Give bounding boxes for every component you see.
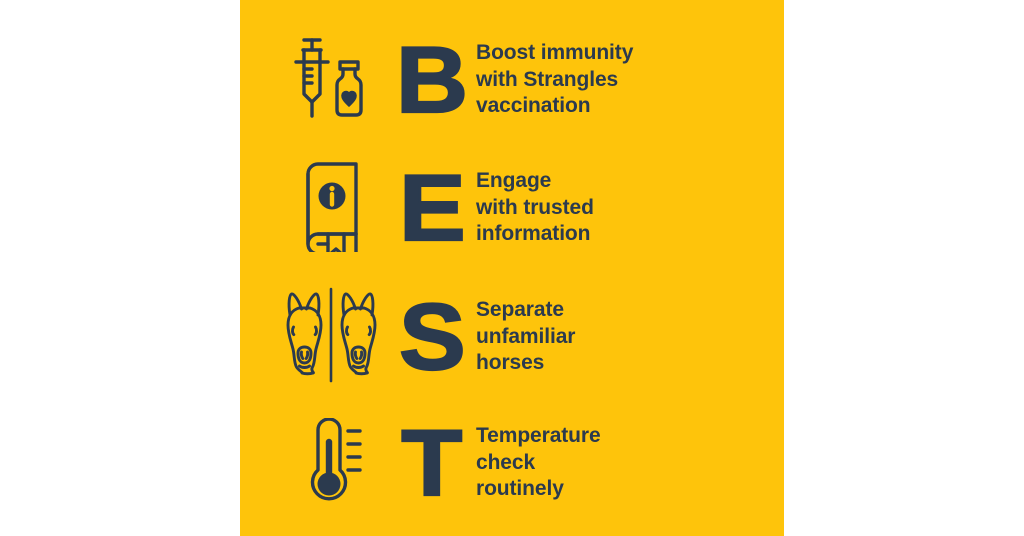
row-e-line-1: Engage [476, 168, 784, 195]
row-e-line-2: with trusted [476, 195, 784, 222]
row-t-line-3: routinely [476, 476, 784, 503]
big-letter-e: E [399, 171, 463, 244]
row-b-line-3: vaccination [476, 93, 784, 120]
book-info-icon [294, 160, 368, 257]
icon-cell-b [240, 30, 400, 130]
text-cell-t: Temperature check routinely [462, 423, 784, 503]
syringe-vial-icon [292, 36, 370, 125]
thermometer-icon [296, 418, 366, 509]
yellow-panel: B Boost immunity with Strangles vaccinat… [240, 0, 784, 536]
letter-cell-b: B [400, 43, 462, 116]
big-letter-t: T [402, 426, 461, 499]
two-horse-heads-divided-icon [276, 287, 386, 388]
best-row-e: E Engage with trusted information [240, 158, 784, 258]
letter-cell-s: S [400, 300, 462, 373]
big-letter-s: S [399, 300, 463, 373]
icon-cell-e [240, 158, 400, 258]
best-row-t: T Temperature check routinely [240, 411, 784, 515]
big-letter-b: B [396, 43, 466, 116]
letter-cell-e: E [400, 171, 462, 244]
text-cell-s: Separate unfamiliar horses [462, 297, 784, 377]
best-row-b: B Boost immunity with Strangles vaccinat… [240, 30, 784, 130]
icon-cell-s [240, 285, 400, 389]
row-t-line-2: check [476, 450, 784, 477]
icon-cell-t [240, 411, 400, 515]
row-e-line-3: information [476, 221, 784, 248]
text-cell-b: Boost immunity with Strangles vaccinatio… [462, 40, 784, 120]
row-s-line-3: horses [476, 350, 784, 377]
row-t-line-1: Temperature [476, 423, 784, 450]
row-b-line-1: Boost immunity [476, 40, 784, 67]
row-b-line-2: with Strangles [476, 67, 784, 94]
row-s-line-2: unfamiliar [476, 324, 784, 351]
letter-cell-t: T [400, 426, 462, 499]
row-s-line-1: Separate [476, 297, 784, 324]
best-row-s: S Separate unfamiliar horses [240, 285, 784, 389]
poster-canvas: B Boost immunity with Strangles vaccinat… [0, 0, 1024, 536]
text-cell-e: Engage with trusted information [462, 168, 784, 248]
